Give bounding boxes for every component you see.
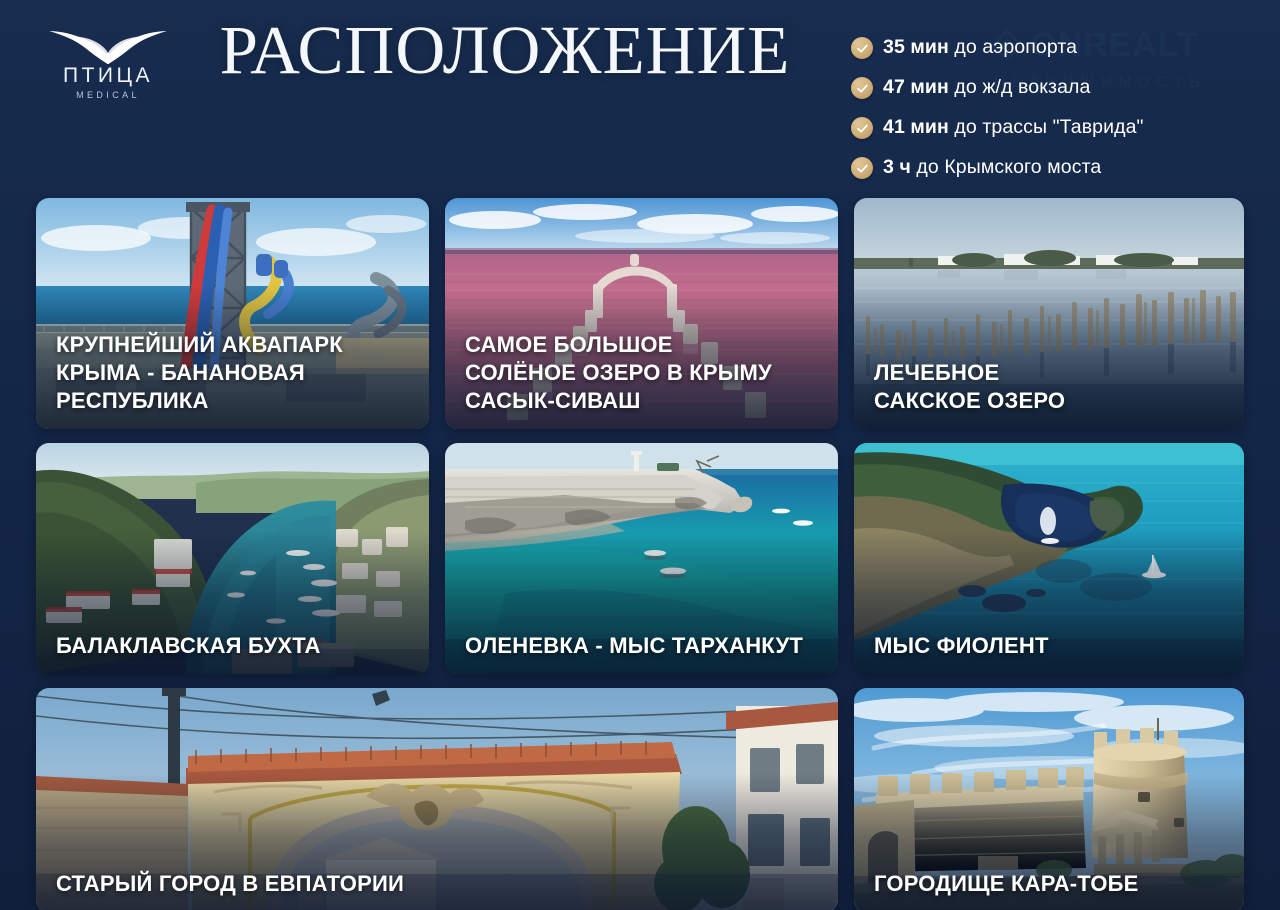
card-akvapark[interactable]: КРУПНЕЙШИЙ АКВАПАРК КРЫМА - БАНАНОВАЯ РЕ… bbox=[36, 198, 429, 429]
card-mys-tarhankut[interactable]: ОЛЕНЕВКА - МЫС ТАРХАНКУТ bbox=[445, 443, 838, 674]
facts-list: 35 мин до аэропорта 47 мин до ж/д вокзал… bbox=[851, 28, 1266, 188]
check-circle-icon bbox=[851, 157, 873, 179]
fact-value: 3 ч bbox=[883, 156, 911, 178]
card-mys-fiolent[interactable]: МЫС ФИОЛЕНТ bbox=[854, 443, 1244, 674]
slide-background: ONREALT НЕДВИЖИМОСТЬ ПТИЦА MEDICAL РАСПО… bbox=[0, 0, 1280, 910]
fact-item: 47 мин до ж/д вокзала bbox=[851, 68, 1266, 108]
fact-value: 41 мин bbox=[883, 116, 949, 138]
fact-value: 35 мин bbox=[883, 36, 949, 58]
card-sasyk-sivash[interactable]: САМОЕ БОЛЬШОЕ СОЛЁНОЕ ОЗЕРО В КРЫМУ САСЫ… bbox=[445, 198, 838, 429]
brand-name: ПТИЦА bbox=[38, 65, 178, 86]
brand-logo: ПТИЦА MEDICAL bbox=[38, 28, 178, 100]
card-caption: ОЛЕНЕВКА - МЫС ТАРХАНКУТ bbox=[465, 632, 824, 660]
fact-item: 3 ч до Крымского моста bbox=[851, 148, 1266, 188]
card-kara-tobe[interactable]: ГОРОДИЩЕ КАРА-ТОБЕ bbox=[854, 688, 1244, 910]
card-caption: СТАРЫЙ ГОРОД В ЕВПАТОРИИ bbox=[56, 870, 824, 898]
fact-label: до аэропорта bbox=[949, 36, 1077, 58]
card-caption: МЫС ФИОЛЕНТ bbox=[874, 632, 1230, 660]
card-caption: ГОРОДИЩЕ КАРА-ТОБЕ bbox=[874, 870, 1230, 898]
fact-label: до ж/д вокзала bbox=[949, 76, 1091, 98]
fact-value: 47 мин bbox=[883, 76, 949, 98]
card-balaklavskaya-buhta[interactable]: БАЛАКЛАВСКАЯ БУХТА bbox=[36, 443, 429, 674]
fact-item: 35 мин до аэропорта bbox=[851, 28, 1266, 68]
fact-item: 41 мин до трассы "Таврида" bbox=[851, 108, 1266, 148]
bird-wings-icon bbox=[45, 28, 171, 64]
check-circle-icon bbox=[851, 37, 873, 59]
check-circle-icon bbox=[851, 77, 873, 99]
slide-header: ПТИЦА MEDICAL РАСПОЛОЖЕНИЕ 35 мин до аэр… bbox=[0, 0, 1280, 196]
page-title: РАСПОЛОЖЕНИЕ bbox=[205, 14, 805, 86]
brand-subtitle: MEDICAL bbox=[38, 91, 178, 100]
attractions-grid: КРУПНЕЙШИЙ АКВАПАРК КРЫМА - БАНАНОВАЯ РЕ… bbox=[36, 198, 1244, 910]
card-sakskoe-ozero[interactable]: ЛЕЧЕБНОЕ САКСКОЕ ОЗЕРО bbox=[854, 198, 1244, 429]
card-staryj-gorod-evpatoriya[interactable]: СТАРЫЙ ГОРОД В ЕВПАТОРИИ bbox=[36, 688, 838, 910]
card-caption: БАЛАКЛАВСКАЯ БУХТА bbox=[56, 632, 415, 660]
card-caption: ЛЕЧЕБНОЕ САКСКОЕ ОЗЕРО bbox=[874, 359, 1230, 415]
card-caption: КРУПНЕЙШИЙ АКВАПАРК КРЫМА - БАНАНОВАЯ РЕ… bbox=[56, 331, 415, 415]
fact-label: до трассы "Таврида" bbox=[949, 116, 1144, 138]
card-caption: САМОЕ БОЛЬШОЕ СОЛЁНОЕ ОЗЕРО В КРЫМУ САСЫ… bbox=[465, 331, 824, 415]
check-circle-icon bbox=[851, 117, 873, 139]
fact-label: до Крымского моста bbox=[911, 156, 1101, 178]
